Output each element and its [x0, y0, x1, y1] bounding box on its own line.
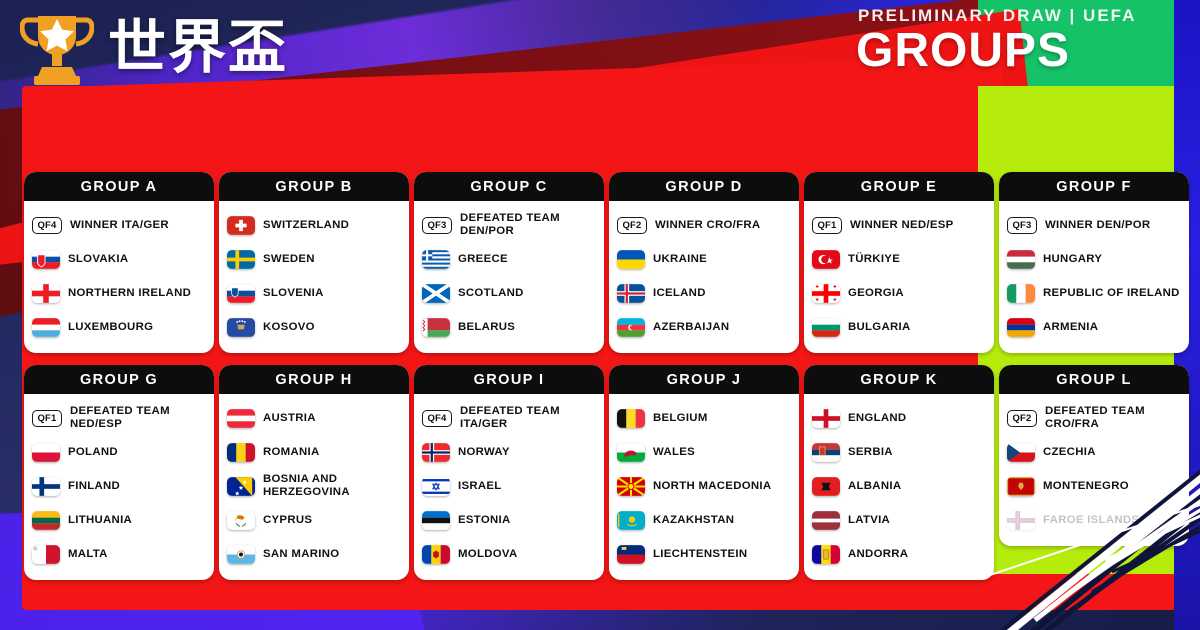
scotland-flag-icon: [422, 284, 450, 303]
turkiye-flag-icon: [812, 250, 840, 269]
group-card[interactable]: GROUP HAUSTRIAROMANIABOSNIA AND HERZEGOV…: [219, 365, 409, 580]
team-row[interactable]: ALBANIA: [812, 469, 986, 503]
team-name: CYPRUS: [263, 514, 312, 527]
team-row[interactable]: AZERBAIJAN: [617, 310, 791, 344]
team-row[interactable]: NORTHERN IRELAND: [32, 276, 206, 310]
slovakia-flag-icon: [32, 250, 60, 269]
team-name: DEFEATED TEAM CRO/FRA: [1045, 405, 1145, 431]
team-row[interactable]: LITHUANIA: [32, 503, 206, 537]
team-row[interactable]: ANDORRA: [812, 537, 986, 571]
cyprus-flag-icon: [227, 511, 255, 530]
team-row[interactable]: FAROE ISLANDS: [1007, 503, 1181, 537]
belgium-flag-icon: [617, 409, 645, 428]
qualifier-badge: QF3: [1007, 217, 1037, 234]
qualifier-badge: QF2: [1007, 410, 1037, 427]
team-row[interactable]: WALES: [617, 435, 791, 469]
team-row[interactable]: REPUBLIC OF IRELAND: [1007, 276, 1181, 310]
moldova-flag-icon: [422, 545, 450, 564]
georgia-flag-icon: [812, 284, 840, 303]
poland-flag-icon: [32, 443, 60, 462]
lithuania-flag-icon: [32, 511, 60, 530]
group-team-list: QF1WINNER NED/ESPTÜRKIYEGEORGIABULGARIA: [804, 201, 994, 353]
team-name: POLAND: [68, 446, 118, 459]
groups-grid: GROUP AQF4WINNER ITA/GERSLOVAKIANORTHERN…: [24, 172, 1184, 580]
team-name: WINNER NED/ESP: [850, 219, 954, 232]
team-row[interactable]: QF3DEFEATED TEAM DEN/POR: [422, 208, 596, 242]
serbia-flag-icon: [812, 443, 840, 462]
team-name: ESTONIA: [458, 514, 511, 527]
team-name: HUNGARY: [1043, 253, 1102, 266]
team-name: BOSNIA AND HERZEGOVINA: [263, 473, 350, 499]
team-name: NORWAY: [458, 446, 510, 459]
israel-flag-icon: [422, 477, 450, 496]
team-row[interactable]: CZECHIA: [1007, 435, 1181, 469]
andorra-flag-icon: [812, 545, 840, 564]
team-row[interactable]: ARMENIA: [1007, 310, 1181, 344]
team-name: KOSOVO: [263, 321, 315, 334]
team-row[interactable]: FINLAND: [32, 469, 206, 503]
team-name: SWITZERLAND: [263, 219, 349, 232]
brand-lockup: 世界盃: [20, 8, 288, 88]
hungary-flag-icon: [1007, 250, 1035, 269]
team-name: ICELAND: [653, 287, 706, 300]
brand-title: 世界盃: [108, 19, 288, 77]
team-name: ALBANIA: [848, 480, 901, 493]
team-row[interactable]: SLOVENIA: [227, 276, 401, 310]
wales-flag-icon: [617, 443, 645, 462]
group-card[interactable]: GROUP LQF2DEFEATED TEAM CRO/FRACZECHIAMO…: [999, 365, 1189, 546]
luxembourg-flag-icon: [32, 318, 60, 337]
team-row[interactable]: MOLDOVA: [422, 537, 596, 571]
group-header: GROUP B: [219, 172, 409, 201]
kosovo-flag-icon: [227, 318, 255, 337]
group-team-list: SWITZERLANDSWEDENSLOVENIAKOSOVO: [219, 201, 409, 353]
team-row[interactable]: QF2DEFEATED TEAM CRO/FRA: [1007, 401, 1181, 435]
team-name: WINNER CRO/FRA: [655, 219, 760, 232]
team-name: SLOVAKIA: [68, 253, 128, 266]
group-team-list: QF3DEFEATED TEAM DEN/PORGREECESCOTLANDBE…: [414, 201, 604, 353]
team-row[interactable]: QF1DEFEATED TEAM NED/ESP: [32, 401, 206, 435]
team-row[interactable]: AUSTRIA: [227, 401, 401, 435]
qualifier-badge: QF3: [422, 217, 452, 234]
header-block: PRELIMINARY DRAW | UEFA GROUPS: [846, 6, 1176, 76]
latvia-flag-icon: [812, 511, 840, 530]
team-name: CZECHIA: [1043, 446, 1096, 459]
header-kicker: PRELIMINARY DRAW | UEFA: [858, 6, 1176, 26]
team-name: AZERBAIJAN: [653, 321, 729, 334]
team-row[interactable]: SERBIA: [812, 435, 986, 469]
group-header: GROUP F: [999, 172, 1189, 201]
team-row[interactable]: LATVIA: [812, 503, 986, 537]
qualifier-badge: QF2: [617, 217, 647, 234]
team-row[interactable]: BOSNIA AND HERZEGOVINA: [227, 469, 401, 503]
team-row[interactable]: GREECE: [422, 242, 596, 276]
north-macedonia-flag-icon: [617, 477, 645, 496]
team-name: LATVIA: [848, 514, 890, 527]
group-team-list: QF1DEFEATED TEAM NED/ESPPOLANDFINLANDLIT…: [24, 394, 214, 580]
czechia-flag-icon: [1007, 443, 1035, 462]
team-row[interactable]: QF4WINNER ITA/GER: [32, 208, 206, 242]
team-name: DEFEATED TEAM ITA/GER: [460, 405, 560, 431]
armenia-flag-icon: [1007, 318, 1035, 337]
greece-flag-icon: [422, 250, 450, 269]
team-name: SERBIA: [848, 446, 893, 459]
team-name: NORTH MACEDONIA: [653, 480, 771, 493]
team-row[interactable]: ISRAEL: [422, 469, 596, 503]
group-card[interactable]: GROUP AQF4WINNER ITA/GERSLOVAKIANORTHERN…: [24, 172, 214, 353]
group-card[interactable]: GROUP IQF4DEFEATED TEAM ITA/GERNORWAYISR…: [414, 365, 604, 580]
group-card[interactable]: GROUP DQF2WINNER CRO/FRAUKRAINEICELANDAZ…: [609, 172, 799, 353]
team-row[interactable]: KOSOVO: [227, 310, 401, 344]
qualifier-badge: QF4: [422, 410, 452, 427]
team-row[interactable]: BELGIUM: [617, 401, 791, 435]
switzerland-flag-icon: [227, 216, 255, 235]
team-row[interactable]: ICELAND: [617, 276, 791, 310]
qualifier-badge: QF4: [32, 217, 62, 234]
group-header: GROUP A: [24, 172, 214, 201]
liechtenstein-flag-icon: [617, 545, 645, 564]
norway-flag-icon: [422, 443, 450, 462]
team-name: FINLAND: [68, 480, 120, 493]
team-row[interactable]: QF2WINNER CRO/FRA: [617, 208, 791, 242]
draw-graphic: 世界盃 PRELIMINARY DRAW | UEFA GROUPS GROUP…: [0, 0, 1200, 630]
sweden-flag-icon: [227, 250, 255, 269]
team-row[interactable]: TÜRKIYE: [812, 242, 986, 276]
team-row[interactable]: LUXEMBOURG: [32, 310, 206, 344]
albania-flag-icon: [812, 477, 840, 496]
team-row[interactable]: NORWAY: [422, 435, 596, 469]
team-row[interactable]: UKRAINE: [617, 242, 791, 276]
team-name: REPUBLIC OF IRELAND: [1043, 287, 1180, 300]
team-row[interactable]: SWITZERLAND: [227, 208, 401, 242]
group-team-list: BELGIUMWALESNORTH MACEDONIAKAZAKHSTANLIE…: [609, 394, 799, 580]
team-row[interactable]: QF4DEFEATED TEAM ITA/GER: [422, 401, 596, 435]
team-row[interactable]: BULGARIA: [812, 310, 986, 344]
team-name: ROMANIA: [263, 446, 320, 459]
team-row[interactable]: QF1WINNER NED/ESP: [812, 208, 986, 242]
group-header: GROUP I: [414, 365, 604, 394]
team-name: ARMENIA: [1043, 321, 1098, 334]
group-team-list: QF4DEFEATED TEAM ITA/GERNORWAYISRAELESTO…: [414, 394, 604, 580]
group-team-list: QF4WINNER ITA/GERSLOVAKIANORTHERN IRELAN…: [24, 201, 214, 353]
kazakhstan-flag-icon: [617, 511, 645, 530]
group-card[interactable]: GROUP GQF1DEFEATED TEAM NED/ESPPOLANDFIN…: [24, 365, 214, 580]
team-name: WINNER DEN/POR: [1045, 219, 1150, 232]
team-name: LIECHTENSTEIN: [653, 548, 747, 561]
team-name: WALES: [653, 446, 695, 459]
team-row[interactable]: MONTENEGRO: [1007, 469, 1181, 503]
team-name: ANDORRA: [848, 548, 908, 561]
team-name: KAZAKHSTAN: [653, 514, 734, 527]
team-name: GREECE: [458, 253, 508, 266]
san-marino-flag-icon: [227, 545, 255, 564]
group-team-list: QF2WINNER CRO/FRAUKRAINEICELANDAZERBAIJA…: [609, 201, 799, 353]
team-row[interactable]: SWEDEN: [227, 242, 401, 276]
bosnia-flag-icon: [227, 477, 255, 496]
group-card[interactable]: GROUP FQF3WINNER DEN/PORHUNGARYREPUBLIC …: [999, 172, 1189, 353]
team-name: WINNER ITA/GER: [70, 219, 169, 232]
team-name: GEORGIA: [848, 287, 904, 300]
group-team-list: AUSTRIAROMANIABOSNIA AND HERZEGOVINACYPR…: [219, 394, 409, 580]
team-name: BELARUS: [458, 321, 515, 334]
team-name: LITHUANIA: [68, 514, 132, 527]
group-header: GROUP J: [609, 365, 799, 394]
slovenia-flag-icon: [227, 284, 255, 303]
team-row[interactable]: NORTH MACEDONIA: [617, 469, 791, 503]
team-name: FAROE ISLANDS: [1043, 514, 1139, 527]
group-header: GROUP E: [804, 172, 994, 201]
group-card[interactable]: GROUP BSWITZERLANDSWEDENSLOVENIAKOSOVO: [219, 172, 409, 353]
malta-flag-icon: [32, 545, 60, 564]
team-name: SLOVENIA: [263, 287, 324, 300]
group-card[interactable]: GROUP CQF3DEFEATED TEAM DEN/PORGREECESCO…: [414, 172, 604, 353]
team-row[interactable]: SAN MARINO: [227, 537, 401, 571]
team-row[interactable]: HUNGARY: [1007, 242, 1181, 276]
group-card[interactable]: GROUP EQF1WINNER NED/ESPTÜRKIYEGEORGIABU…: [804, 172, 994, 353]
bulgaria-flag-icon: [812, 318, 840, 337]
team-row[interactable]: MALTA: [32, 537, 206, 571]
group-header: GROUP H: [219, 365, 409, 394]
page-title: GROUPS: [856, 26, 1176, 76]
group-header: GROUP K: [804, 365, 994, 394]
team-name: AUSTRIA: [263, 412, 316, 425]
team-name: ENGLAND: [848, 412, 906, 425]
qualifier-badge: QF1: [812, 217, 842, 234]
team-name: MONTENEGRO: [1043, 480, 1129, 493]
team-row[interactable]: ENGLAND: [812, 401, 986, 435]
group-header: GROUP C: [414, 172, 604, 201]
team-name: TÜRKIYE: [848, 253, 900, 266]
group-card[interactable]: GROUP KENGLANDSERBIAALBANIALATVIAANDORRA: [804, 365, 994, 580]
group-team-list: ENGLANDSERBIAALBANIALATVIAANDORRA: [804, 394, 994, 580]
team-row[interactable]: GEORGIA: [812, 276, 986, 310]
team-row[interactable]: BELARUS: [422, 310, 596, 344]
team-name: MOLDOVA: [458, 548, 517, 561]
team-name: BULGARIA: [848, 321, 911, 334]
group-header: GROUP D: [609, 172, 799, 201]
team-name: NORTHERN IRELAND: [68, 287, 191, 300]
finland-flag-icon: [32, 477, 60, 496]
austria-flag-icon: [227, 409, 255, 428]
montenegro-flag-icon: [1007, 477, 1035, 496]
team-row[interactable]: SLOVAKIA: [32, 242, 206, 276]
team-name: SAN MARINO: [263, 548, 339, 561]
team-name: MALTA: [68, 548, 108, 561]
team-row[interactable]: CYPRUS: [227, 503, 401, 537]
iceland-flag-icon: [617, 284, 645, 303]
romania-flag-icon: [227, 443, 255, 462]
england-flag-icon: [812, 409, 840, 428]
team-row[interactable]: KAZAKHSTAN: [617, 503, 791, 537]
trophy-icon: [20, 8, 94, 88]
faroe-islands-flag-icon: [1007, 511, 1035, 530]
team-name: LUXEMBOURG: [68, 321, 153, 334]
team-row[interactable]: ROMANIA: [227, 435, 401, 469]
team-row[interactable]: LIECHTENSTEIN: [617, 537, 791, 571]
belarus-flag-icon: [422, 318, 450, 337]
azerbaijan-flag-icon: [617, 318, 645, 337]
team-name: DEFEATED TEAM NED/ESP: [70, 405, 170, 431]
group-team-list: QF2DEFEATED TEAM CRO/FRACZECHIAMONTENEGR…: [999, 394, 1189, 546]
group-header: GROUP G: [24, 365, 214, 394]
team-row[interactable]: POLAND: [32, 435, 206, 469]
group-header: GROUP L: [999, 365, 1189, 394]
team-row[interactable]: QF3WINNER DEN/POR: [1007, 208, 1181, 242]
group-team-list: QF3WINNER DEN/PORHUNGARYREPUBLIC OF IREL…: [999, 201, 1189, 353]
team-name: UKRAINE: [653, 253, 707, 266]
team-name: SCOTLAND: [458, 287, 524, 300]
group-card[interactable]: GROUP JBELGIUMWALESNORTH MACEDONIAKAZAKH…: [609, 365, 799, 580]
team-row[interactable]: SCOTLAND: [422, 276, 596, 310]
ukraine-flag-icon: [617, 250, 645, 269]
team-row[interactable]: ESTONIA: [422, 503, 596, 537]
team-name: SWEDEN: [263, 253, 315, 266]
team-name: DEFEATED TEAM DEN/POR: [460, 212, 560, 238]
qualifier-badge: QF1: [32, 410, 62, 427]
team-name: ISRAEL: [458, 480, 502, 493]
estonia-flag-icon: [422, 511, 450, 530]
team-name: BELGIUM: [653, 412, 708, 425]
northern-ireland-flag-icon: [32, 284, 60, 303]
ireland-flag-icon: [1007, 284, 1035, 303]
